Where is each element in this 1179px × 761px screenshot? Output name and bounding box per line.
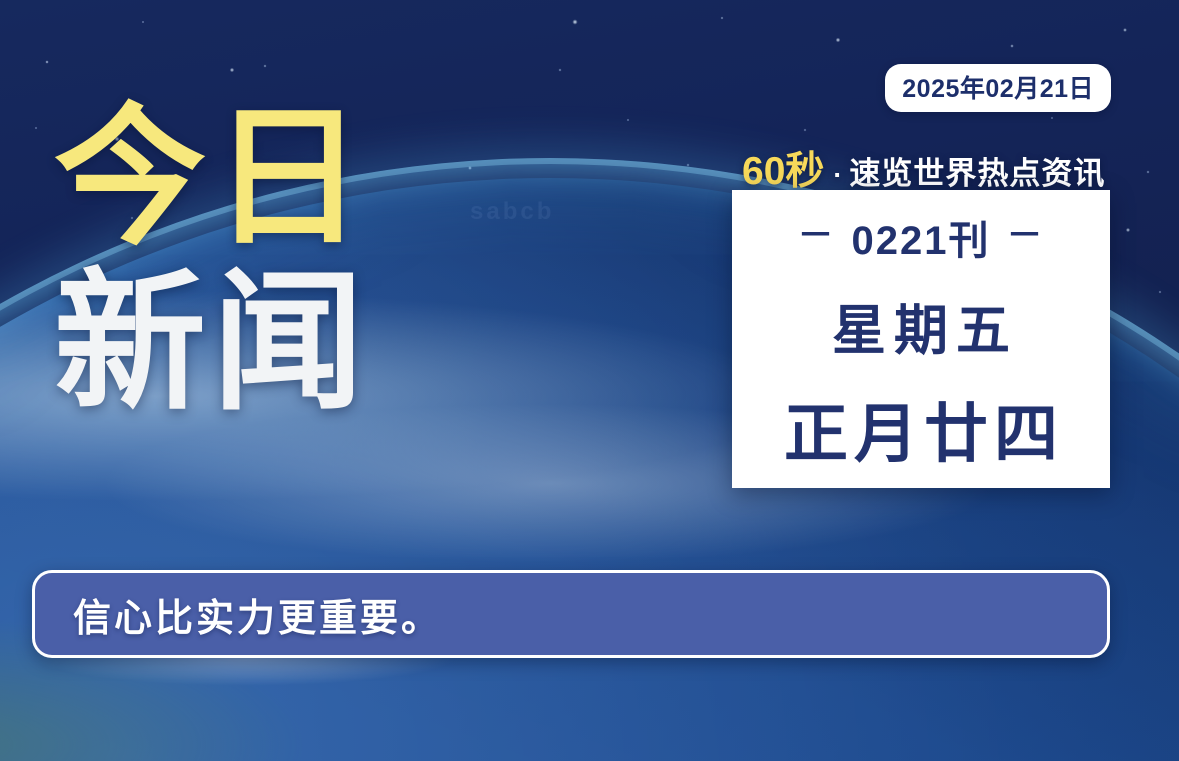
tagline-duration: 60秒 (742, 140, 824, 196)
issue-dash-left-icon: － (797, 217, 835, 253)
issue-dash-right-icon: － (1006, 217, 1044, 253)
quote-banner: 信心比实力更重要。 (32, 570, 1110, 658)
title-line-news: 新闻 (54, 269, 370, 418)
news-poster: sabcb 今日 新闻 2025年02月21日 60秒 · 速览世界热点资讯 －… (0, 0, 1179, 761)
title-line-today: 今日 (54, 104, 370, 253)
quote-text: 信心比实力更重要。 (73, 587, 442, 642)
lunar-date-label: 正月廿四 (778, 383, 1064, 475)
tagline-separator: · (833, 160, 842, 191)
issue-number: 0221刊 (852, 208, 991, 266)
tagline: 60秒 · 速览世界热点资讯 (742, 140, 1105, 196)
weekday-label: 星期五 (824, 286, 1018, 365)
issue-info-card: － 0221刊 － 星期五 正月廿四 (732, 190, 1110, 488)
issue-row: － 0221刊 － (797, 208, 1044, 266)
date-badge: 2025年02月21日 (885, 64, 1111, 112)
tagline-text: 速览世界热点资讯 (849, 148, 1105, 193)
page-title: 今日 新闻 (54, 104, 370, 418)
background-watermark: sabcb (470, 198, 554, 226)
